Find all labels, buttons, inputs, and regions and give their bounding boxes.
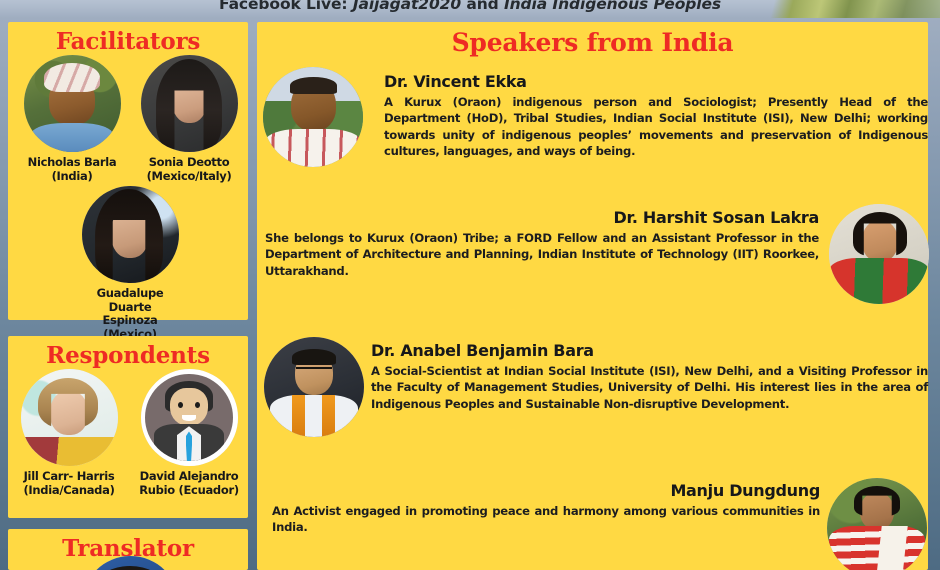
translator-photo [82,556,179,570]
facilitator-card-sonia-deotto: Sonia Deotto (Mexico/Italy) [134,55,244,183]
facilitator-name-guadalupe-duarte-espinoza: Guadalupe Duarte Espinoza (Mexico) [75,287,185,341]
respondent-name-text: Jill Carr- Harris [24,469,115,483]
respondent-name-text: David Alejandro [140,469,239,483]
event-banner: Facebook Live: Jaijagat2020 and India In… [0,0,940,18]
respondent-location-text: (India/Canada) [23,483,114,497]
banner-title-emphasis-iip: India Indigenous Peoples [504,0,721,13]
facilitator-name-text: Guadalupe Duarte [97,286,164,314]
banner-title-emphasis-jaijagat: Jaijagat2020 [353,0,461,13]
speaker-name-harshit-sosan-lakra: Dr. Harshit Sosan Lakra [265,208,819,227]
jill-carr-harris-photo [21,369,118,466]
facilitator-card-guadalupe-duarte-espinoza: Guadalupe Duarte Espinoza (Mexico) [75,186,185,341]
facilitator-name-sonia-deotto: Sonia Deotto (Mexico/Italy) [134,156,244,183]
banner-title-middle: and [461,0,504,13]
speaker-bio-anabel-benjamin-bara: A Social-Scientist at Indian Social Inst… [371,363,928,412]
speaker-text-vincent-ekka: Dr. Vincent Ekka A Kurux (Oraon) indigen… [384,72,928,160]
nicholas-barla-photo [24,55,121,152]
sonia-deotto-photo [141,55,238,152]
facilitator-location-text: (Mexico/Italy) [147,169,232,183]
manju-dungdung-photo [827,478,927,570]
david-alejandro-rubio-avatar [141,369,238,466]
facilitator-location-text: (India) [52,169,93,183]
translator-card [75,556,185,570]
facilitator-name-text: Sonia Deotto [149,155,230,169]
respondent-card-david-alejandro-rubio: David Alejandro Rubio (Ecuador) [134,369,244,497]
facilitator-card-nicholas-barla: Nicholas Barla (India) [17,55,127,183]
respondent-name-david-alejandro-rubio: David Alejandro Rubio (Ecuador) [134,470,244,497]
banner-title-prefix: Facebook Live: [219,0,353,13]
banner-title: Facebook Live: Jaijagat2020 and India In… [0,0,940,13]
respondent-card-jill-carr-harris: Jill Carr- Harris (India/Canada) [14,369,124,497]
speaker-bio-manju-dungdung: An Activist engaged in promoting peace a… [272,503,820,536]
speaker-bio-vincent-ekka: A Kurux (Oraon) indigenous person and So… [384,94,928,160]
speaker-name-anabel-benjamin-bara: Dr. Anabel Benjamin Bara [371,341,928,360]
speaker-name-vincent-ekka: Dr. Vincent Ekka [384,72,928,91]
respondent-location-text: Rubio (Ecuador) [139,483,239,497]
facilitator-name-text: Nicholas Barla [28,155,117,169]
speaker-text-anabel-benjamin-bara: Dr. Anabel Benjamin Bara A Social-Scient… [371,341,928,412]
speaker-name-manju-dungdung: Manju Dungdung [272,481,820,500]
respondent-name-jill-carr-harris: Jill Carr- Harris (India/Canada) [14,470,124,497]
facilitator-name-nicholas-barla: Nicholas Barla (India) [17,156,127,183]
guadalupe-duarte-espinoza-photo [82,186,179,283]
speaker-text-manju-dungdung: Manju Dungdung An Activist engaged in pr… [272,481,820,536]
harshit-sosan-lakra-photo [829,204,929,304]
vincent-ekka-photo [263,67,363,167]
anabel-benjamin-bara-photo [264,337,364,437]
speaker-text-harshit-sosan-lakra: Dr. Harshit Sosan Lakra She belongs to K… [265,208,819,279]
speaker-bio-harshit-sosan-lakra: She belongs to Kurux (Oraon) Tribe; a FO… [265,230,819,279]
speakers-heading: Speakers from India [257,22,928,57]
facilitators-heading: Facilitators [8,22,248,55]
respondents-heading: Respondents [8,336,248,369]
